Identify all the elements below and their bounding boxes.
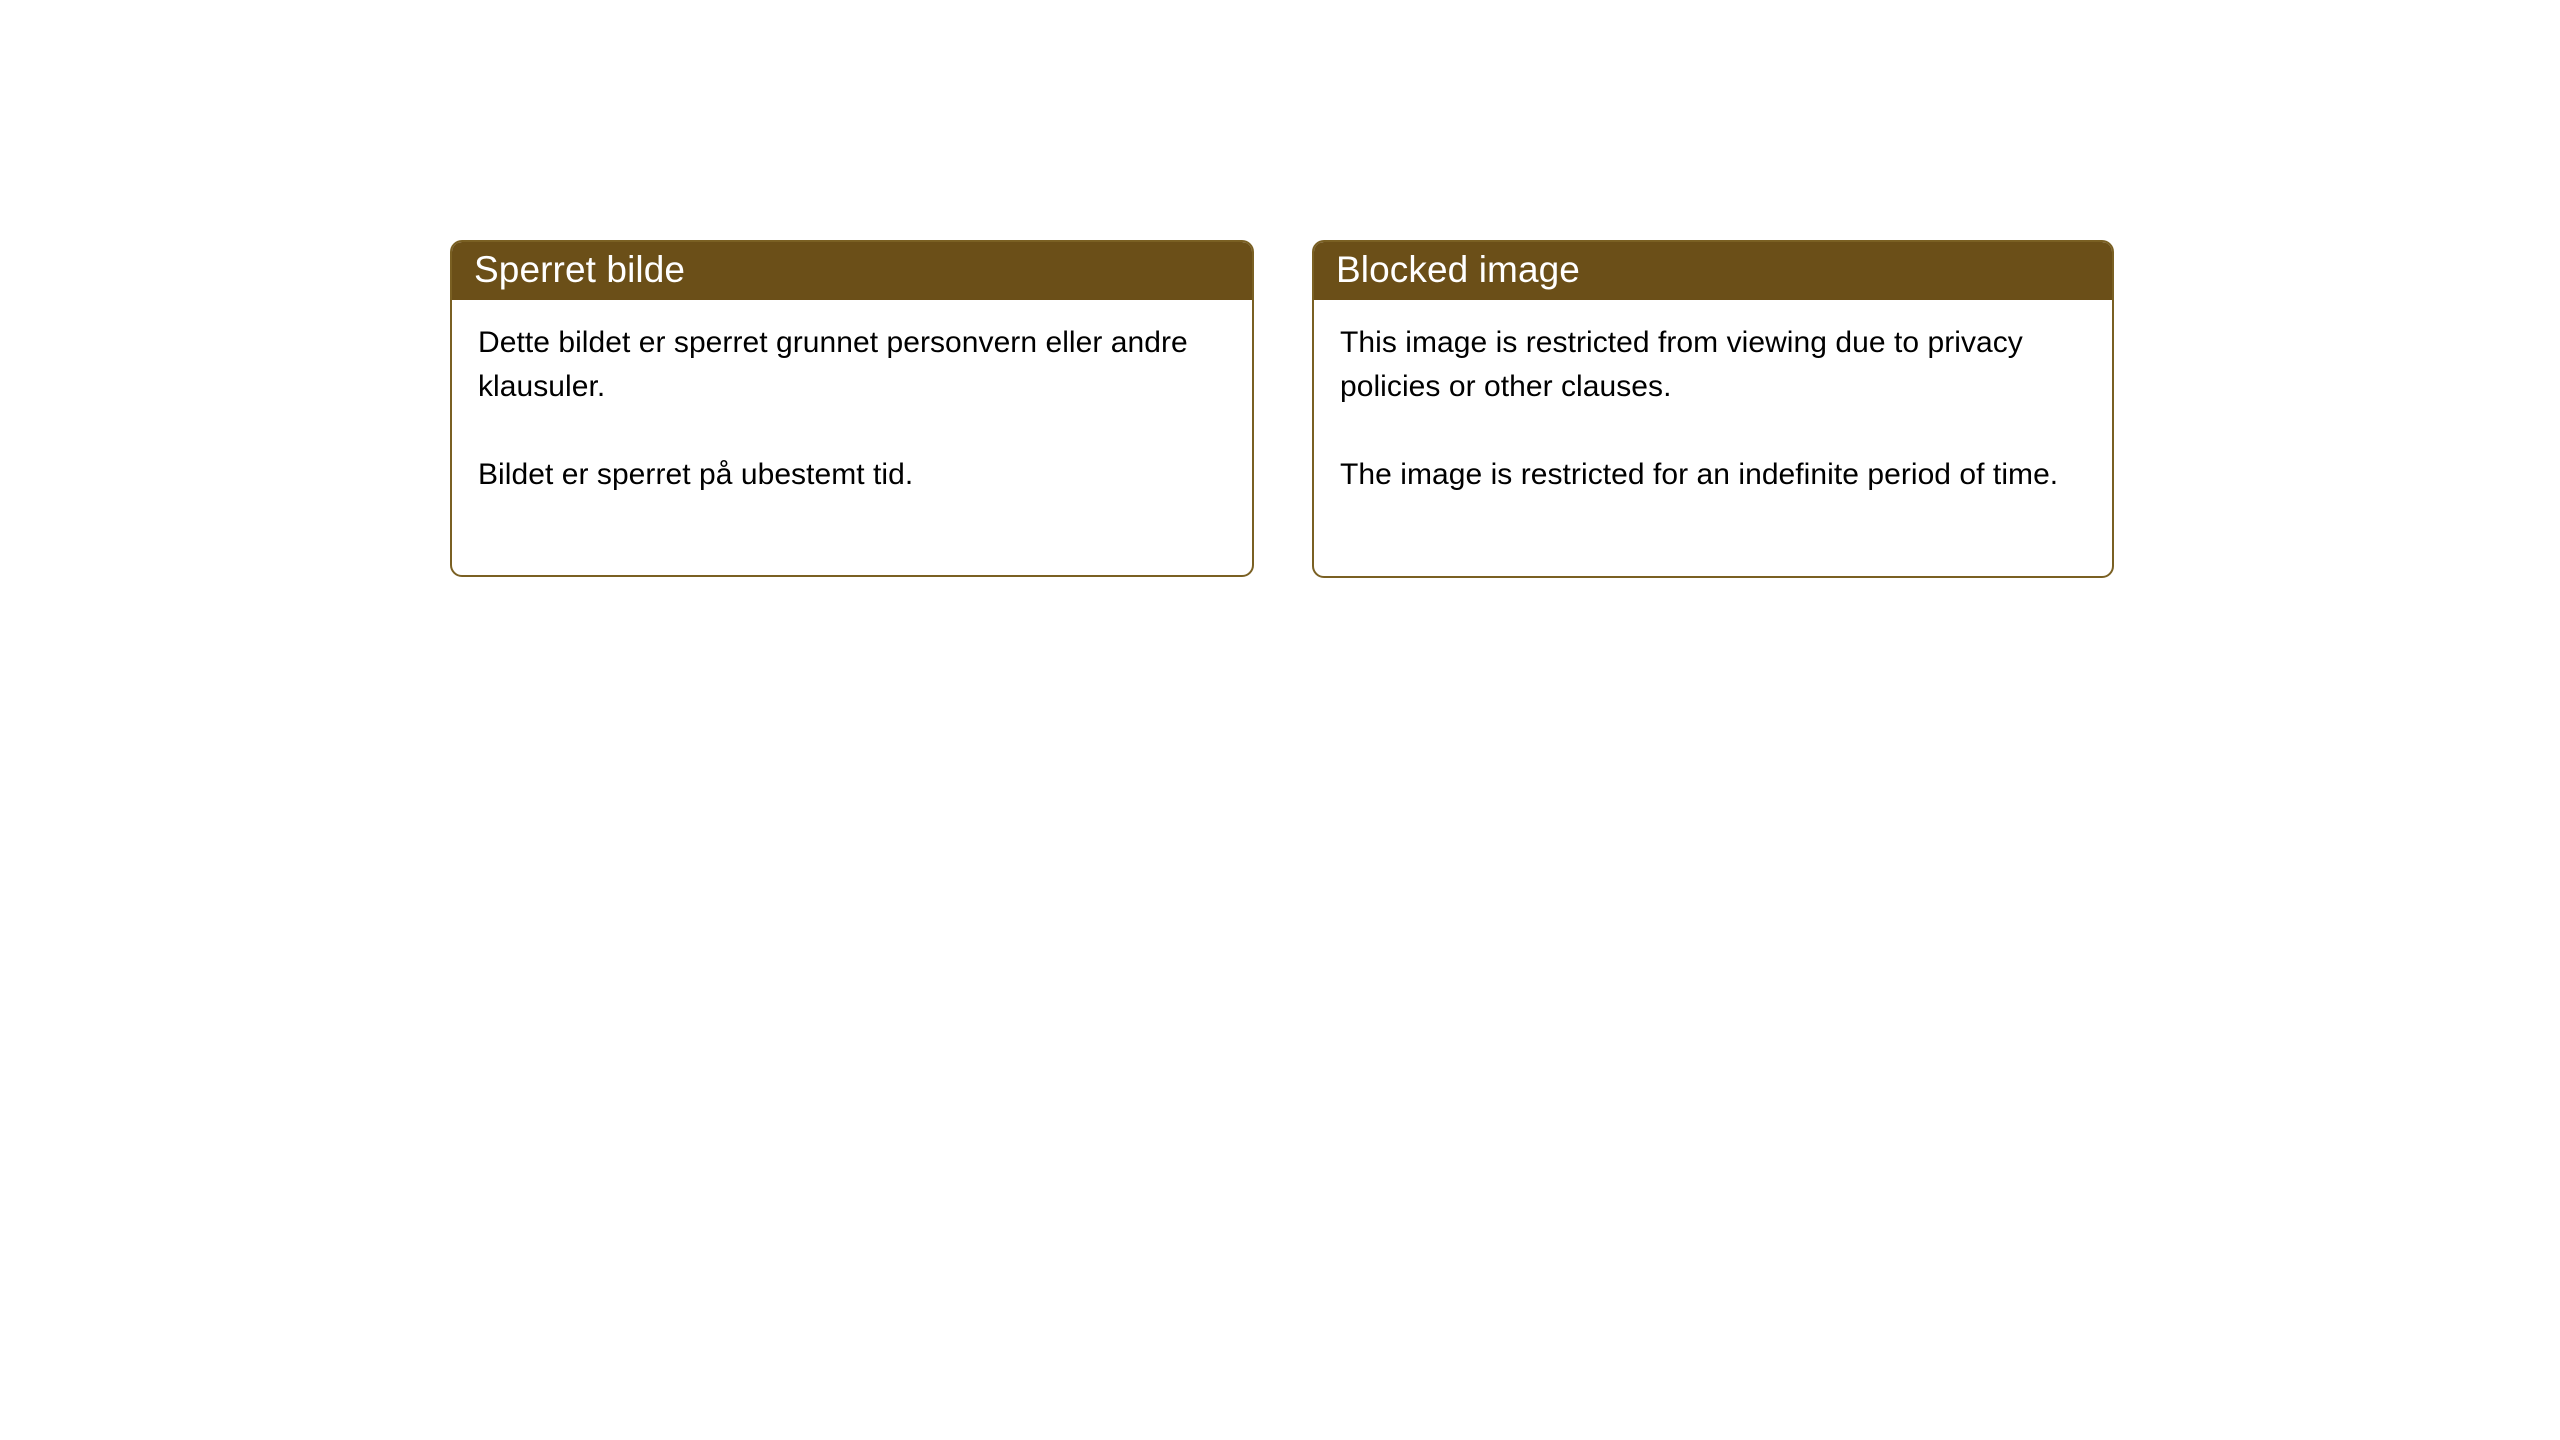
card-paragraph-secondary-english: The image is restricted for an indefinit… <box>1340 453 2088 497</box>
card-paragraph-secondary-norwegian: Bildet er sperret på ubestemt tid. <box>478 453 1228 497</box>
card-title-norwegian: Sperret bilde <box>474 249 685 291</box>
card-body-english: This image is restricted from viewing du… <box>1314 300 2112 497</box>
card-header-english: Blocked image <box>1312 240 2114 300</box>
blocked-image-card-english: Blocked image This image is restricted f… <box>1312 240 2114 578</box>
notice-stage: Sperret bilde Dette bildet er sperret gr… <box>0 0 2560 1440</box>
card-header-norwegian: Sperret bilde <box>450 240 1254 300</box>
blocked-image-card-norwegian: Sperret bilde Dette bildet er sperret gr… <box>450 240 1254 577</box>
card-paragraph-primary-norwegian: Dette bildet er sperret grunnet personve… <box>478 321 1228 409</box>
card-title-english: Blocked image <box>1336 249 1580 291</box>
card-paragraph-primary-english: This image is restricted from viewing du… <box>1340 321 2088 409</box>
card-body-norwegian: Dette bildet er sperret grunnet personve… <box>452 300 1252 497</box>
